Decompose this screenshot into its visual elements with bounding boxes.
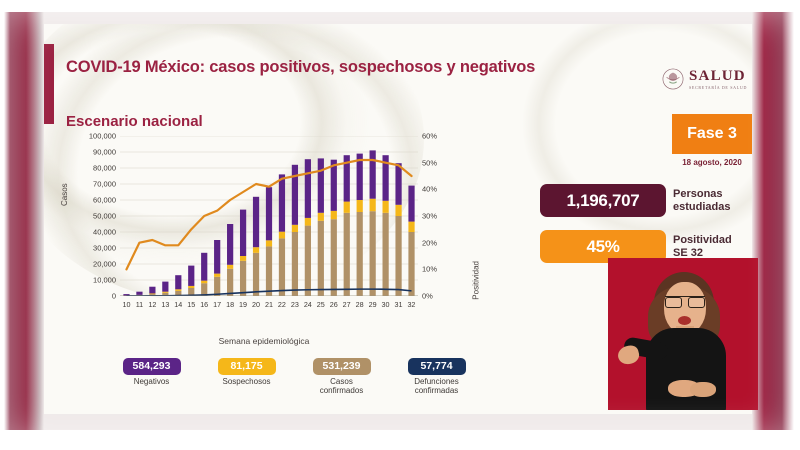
x-tick-label: 15 xyxy=(185,300,198,314)
legend-value-pill: 531,239 xyxy=(313,358,371,375)
y2-tick-label: 30% xyxy=(422,212,437,221)
x-tick-label: 11 xyxy=(133,300,146,314)
bar-segment xyxy=(292,225,298,232)
salud-wordmark: SALUD SECRETARÍA DE SALUD xyxy=(689,69,747,90)
legend-label-line1: Sospechosos xyxy=(199,378,294,387)
bar-segment xyxy=(253,253,259,296)
x-tick-label: 24 xyxy=(301,300,314,314)
bar-segment xyxy=(136,292,142,295)
sign-language-interpreter-video xyxy=(608,258,758,410)
interpreter-mouth xyxy=(678,316,691,325)
legend-label-line2: confirmadas xyxy=(389,387,484,396)
y-axis-title: Casos xyxy=(60,183,69,206)
y2-tick-label: 20% xyxy=(422,238,437,247)
phase-date: 18 agosto, 2020 xyxy=(672,158,752,167)
y-tick-label: 0 xyxy=(112,292,116,301)
y-tick-label: 20,000 xyxy=(93,260,116,269)
covid-chart: Casos Positividad 010,00020,00030,00040,… xyxy=(58,136,470,351)
legend-label: Defuncionesconfirmadas xyxy=(389,378,484,396)
slide-accent-bar xyxy=(44,44,54,124)
x-tick-label: 27 xyxy=(340,300,353,314)
stat-label-personas-line2: estudiadas xyxy=(673,201,730,214)
mexico-seal-icon xyxy=(662,68,684,90)
legend-value-pill: 57,774 xyxy=(408,358,466,375)
bar-segment xyxy=(227,224,233,265)
bar-segment xyxy=(214,240,220,274)
bar-segment xyxy=(331,219,337,296)
bar-segment xyxy=(357,212,363,296)
y-tick-label: 50,000 xyxy=(93,212,116,221)
presentation-screenshot: COVID-19 México: casos positivos, sospec… xyxy=(0,0,800,450)
bar-segment xyxy=(305,159,311,218)
bar-segment xyxy=(240,261,246,296)
bar-segment xyxy=(214,277,220,296)
stat-personas-estudiadas: 1,196,707 Personas estudiadas xyxy=(540,184,730,217)
x-tick-label: 28 xyxy=(353,300,366,314)
bar-segment xyxy=(279,232,285,239)
legend-label: Negativos xyxy=(104,378,199,387)
bar-segment xyxy=(279,174,285,231)
x-tick-label: 23 xyxy=(288,300,301,314)
y-tick-label: 100,000 xyxy=(89,132,116,141)
chart-svg xyxy=(120,136,418,296)
bar-segment xyxy=(331,211,337,219)
bar-segment xyxy=(240,210,246,256)
salud-logo: SALUD SECRETARÍA DE SALUD xyxy=(662,68,747,90)
salud-title: SALUD xyxy=(689,69,747,84)
y2-tick-label: 40% xyxy=(422,185,437,194)
bar-segment xyxy=(395,163,401,205)
phase-badge: Fase 3 xyxy=(672,114,752,154)
y-tick-label: 80,000 xyxy=(93,164,116,173)
x-tick-label: 21 xyxy=(262,300,275,314)
bar-segment xyxy=(175,289,181,291)
bar-segment xyxy=(214,274,220,277)
bar-segment xyxy=(344,213,350,296)
bar-segment xyxy=(344,202,350,213)
x-tick-label: 17 xyxy=(211,300,224,314)
bar-segment xyxy=(188,266,194,286)
legend-label-line2: confirmados xyxy=(294,387,389,396)
bar-segment xyxy=(370,150,376,198)
bar-segment xyxy=(149,293,155,294)
x-tick-label: 25 xyxy=(314,300,327,314)
bar-segment xyxy=(253,247,259,253)
bar-segment xyxy=(149,287,155,294)
legend-label: Sospechosos xyxy=(199,378,294,387)
x-tick-label: 10 xyxy=(120,300,133,314)
x-tick-label: 32 xyxy=(405,300,418,314)
legend-item: 81,175Sospechosos xyxy=(199,356,294,395)
y2-tick-label: 10% xyxy=(422,265,437,274)
legend-item: 57,774Defuncionesconfirmadas xyxy=(389,356,484,395)
bar-segment xyxy=(370,199,376,211)
y2-tick-label: 0% xyxy=(422,292,433,301)
x-tick-label: 22 xyxy=(275,300,288,314)
bar-segment xyxy=(357,200,363,212)
slide-subtitle: Escenario nacional xyxy=(66,113,203,130)
legend-value-pill: 584,293 xyxy=(123,358,181,375)
y-tick-label: 40,000 xyxy=(93,228,116,237)
bar-segment xyxy=(395,216,401,296)
legend-value-pill: 81,175 xyxy=(218,358,276,375)
stat-label-personas-line1: Personas xyxy=(673,188,730,201)
bar-segment xyxy=(266,187,272,240)
x-tick-label: 20 xyxy=(250,300,263,314)
bar-segment xyxy=(188,286,194,288)
plot-area xyxy=(120,136,418,296)
y-tick-label: 30,000 xyxy=(93,244,116,253)
bar-segment xyxy=(162,282,168,292)
bar-segment xyxy=(305,226,311,296)
x-tick-label: 31 xyxy=(392,300,405,314)
stat-label-positividad-line1: Positividad xyxy=(673,234,732,247)
legend-item: 531,239Casosconfirmados xyxy=(294,356,389,395)
legend-label: Casosconfirmados xyxy=(294,378,389,396)
bar-segment xyxy=(408,232,414,296)
bar-segment xyxy=(318,213,324,221)
y2-tick-label: 60% xyxy=(422,132,437,141)
y2-tick-label: 50% xyxy=(422,158,437,167)
x-tick-label: 13 xyxy=(159,300,172,314)
stat-label-positividad: Positividad SE 32 xyxy=(673,234,732,260)
bar-segment xyxy=(227,269,233,296)
chart-legend: 584,293Negativos81,175Sospechosos531,239… xyxy=(104,356,484,395)
bar-segment xyxy=(266,246,272,296)
y-tick-label: 70,000 xyxy=(93,180,116,189)
x-tick-label: 16 xyxy=(198,300,211,314)
bar-segment xyxy=(382,201,388,213)
interpreter-torso xyxy=(646,328,726,410)
x-tick-label: 12 xyxy=(146,300,159,314)
x-tick-label: 30 xyxy=(379,300,392,314)
y-tick-label: 60,000 xyxy=(93,196,116,205)
bar-segment xyxy=(227,265,233,269)
bar-segment xyxy=(266,240,272,246)
interpreter-glasses xyxy=(665,296,705,305)
y-tick-label: 90,000 xyxy=(93,148,116,157)
bar-segment xyxy=(305,218,311,226)
x-tick-label: 29 xyxy=(366,300,379,314)
y2-axis-title: Positividad xyxy=(472,261,481,300)
bar-segment xyxy=(382,213,388,296)
y2-axis-tick-labels: 0%10%20%30%40%50%60% xyxy=(422,136,456,296)
bar-segment xyxy=(175,275,181,289)
x-tick-label: 18 xyxy=(224,300,237,314)
y-tick-label: 10,000 xyxy=(93,276,116,285)
legend-item: 584,293Negativos xyxy=(104,356,199,395)
bar-segment xyxy=(292,165,298,225)
bar-segment xyxy=(240,256,246,261)
x-tick-label: 19 xyxy=(237,300,250,314)
interpreter-right-hand-fingers xyxy=(690,382,716,397)
bar-segment xyxy=(253,197,259,247)
bar-segment xyxy=(395,205,401,216)
bar-segment xyxy=(292,232,298,296)
bar-segment xyxy=(318,158,324,212)
stat-label-personas: Personas estudiadas xyxy=(673,188,730,214)
bar-segment xyxy=(162,292,168,293)
x-axis-title: Semana epidemiológica xyxy=(58,336,470,346)
stat-value-personas: 1,196,707 xyxy=(540,184,666,217)
x-tick-label: 26 xyxy=(327,300,340,314)
bar-segment xyxy=(201,281,207,284)
bar-segment xyxy=(279,238,285,296)
bar-segment xyxy=(318,221,324,296)
salud-subtitle: SECRETARÍA DE SALUD xyxy=(689,86,747,90)
x-axis-tick-labels: 1011121314151617181920212223242526272829… xyxy=(120,300,418,314)
bar-segment xyxy=(370,211,376,296)
bar-segment xyxy=(408,186,414,222)
y-axis-tick-labels: 010,00020,00030,00040,00050,00060,00070,… xyxy=(70,136,116,296)
bar-segment xyxy=(201,253,207,281)
bar-segment xyxy=(408,222,414,232)
page-title: COVID-19 México: casos positivos, sospec… xyxy=(66,58,535,77)
legend-label-line1: Negativos xyxy=(104,378,199,387)
x-tick-label: 14 xyxy=(172,300,185,314)
